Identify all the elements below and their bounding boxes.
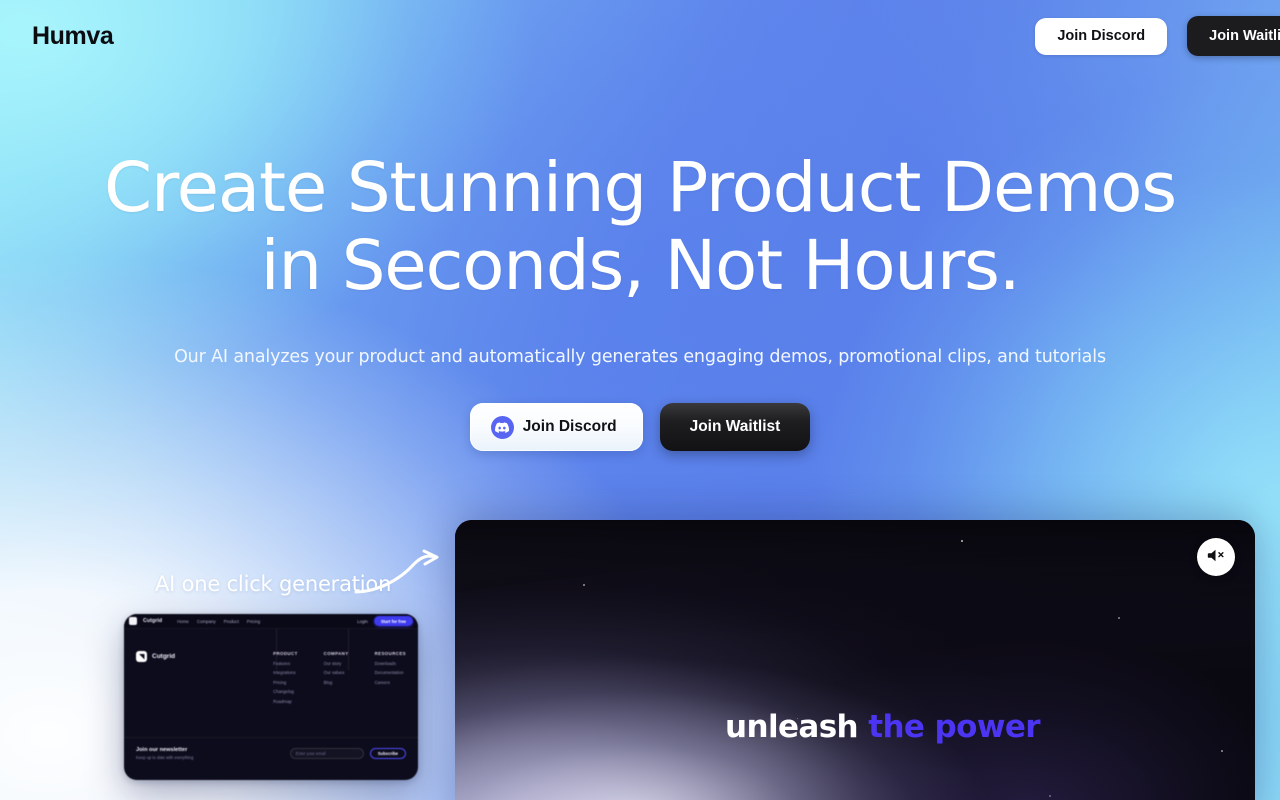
preview-column-heading: COMPANY — [324, 651, 349, 656]
preview-column-item: Pricing — [273, 680, 298, 685]
hero-title-line-2: in Seconds, Not Hours. — [40, 228, 1240, 306]
hero-join-waitlist-button[interactable]: Join Waitlist — [660, 403, 811, 451]
preview-footer-column-company: COMPANY Our story Our values Blog — [324, 651, 349, 708]
hero-join-discord-button[interactable]: Join Discord — [470, 403, 643, 451]
preview-brand: Cutgrid — [143, 618, 162, 624]
preview-nav-link-company: Company — [197, 619, 216, 624]
preview-footer-logo-row: Cutgrid — [136, 651, 263, 662]
preview-divider-1 — [276, 629, 277, 670]
site-header: Humva Join Discord Join Waitlist — [0, 0, 1280, 72]
preview-email-input: Enter your email — [290, 748, 364, 759]
video-caption: unleash the power — [725, 712, 1040, 743]
preview-nav-link-product: Product — [224, 619, 239, 624]
landing-page: Humva Join Discord Join Waitlist Create … — [0, 0, 1280, 800]
preview-footer-logo-icon — [136, 651, 147, 662]
header-join-discord-button[interactable]: Join Discord — [1035, 18, 1167, 55]
preview-footer-body: Cutgrid PRODUCT Features Integrations Pr… — [124, 629, 418, 780]
preview-column-item: Careers — [375, 680, 406, 685]
hero-join-discord-label: Join Discord — [523, 418, 617, 436]
preview-newsletter-text: Join our newsletter Keep up to date with… — [136, 747, 193, 761]
preview-footer-content: Cutgrid PRODUCT Features Integrations Pr… — [136, 651, 406, 708]
video-caption-primary: unleash — [725, 709, 858, 745]
preview-newsletter-subtitle: Keep up to date with everything — [136, 755, 193, 760]
star-dot — [1118, 617, 1120, 619]
preview-logo-icon — [129, 617, 137, 625]
preview-newsletter-title: Join our newsletter — [136, 747, 193, 753]
header-actions: Join Discord Join Waitlist — [1035, 16, 1248, 56]
preview-nav-link-pricing: Pricing — [247, 619, 260, 624]
preview-column-item: Our values — [324, 670, 349, 675]
brand-logo[interactable]: Humva — [32, 24, 113, 49]
star-dot — [583, 584, 585, 586]
preview-column-item: Our story — [324, 661, 349, 666]
preview-column-item: Changelog — [273, 689, 298, 694]
preview-footer-columns: PRODUCT Features Integrations Pricing Ch… — [273, 651, 406, 708]
preview-column-item: Blog — [324, 680, 349, 685]
preview-footer-logo-label: Cutgrid — [152, 653, 175, 660]
preview-nav-links: Home Company Product Pricing — [177, 619, 260, 624]
preview-subscribe-button: Subscribe — [370, 748, 406, 759]
mute-toggle-button[interactable] — [1197, 538, 1235, 576]
demo-video-card[interactable]: unleash the power — [455, 520, 1255, 800]
preview-login-link: Login — [357, 619, 368, 624]
page-title: Create Stunning Product Demos in Seconds… — [40, 150, 1240, 306]
preview-nav-actions: Login Start for free — [357, 616, 413, 626]
speaker-muted-icon — [1207, 548, 1225, 566]
preview-column-heading: RESOURCES — [375, 651, 406, 656]
annotation-label: AI one click generation — [155, 572, 391, 596]
hero-section: Create Stunning Product Demos in Seconds… — [0, 150, 1280, 451]
preview-column-item: Integrations — [273, 670, 298, 675]
preview-cta-button: Start for free — [374, 616, 413, 626]
star-dot — [1221, 750, 1223, 752]
discord-icon — [491, 416, 514, 439]
preview-nav-link-home: Home — [177, 619, 189, 624]
star-dot — [1049, 795, 1051, 797]
preview-footer-column-resources: RESOURCES Downloads Documentation Career… — [375, 651, 406, 708]
video-vignette — [455, 520, 1255, 800]
preview-footer-brand-block: Cutgrid — [136, 651, 263, 708]
preview-newsletter: Join our newsletter Keep up to date with… — [124, 737, 418, 761]
hero-title-line-1: Create Stunning Product Demos — [40, 150, 1240, 228]
preview-column-item: Downloads — [375, 661, 406, 666]
preview-card[interactable]: Cutgrid Home Company Product Pricing Log… — [124, 614, 418, 780]
preview-newsletter-form: Enter your email Subscribe — [290, 748, 406, 759]
video-caption-accent: the power — [868, 709, 1040, 745]
preview-divider-2 — [348, 629, 349, 670]
preview-email-placeholder: Enter your email — [296, 751, 326, 756]
hero-subtitle: Our AI analyzes your product and automat… — [40, 345, 1240, 370]
preview-column-item: Documentation — [375, 670, 406, 675]
preview-column-item: Roadmap — [273, 699, 298, 704]
hero-cta-group: Join Discord Join Waitlist — [40, 403, 1240, 451]
preview-navbar: Cutgrid Home Company Product Pricing Log… — [124, 614, 418, 629]
header-join-waitlist-button[interactable]: Join Waitlist — [1187, 16, 1280, 56]
